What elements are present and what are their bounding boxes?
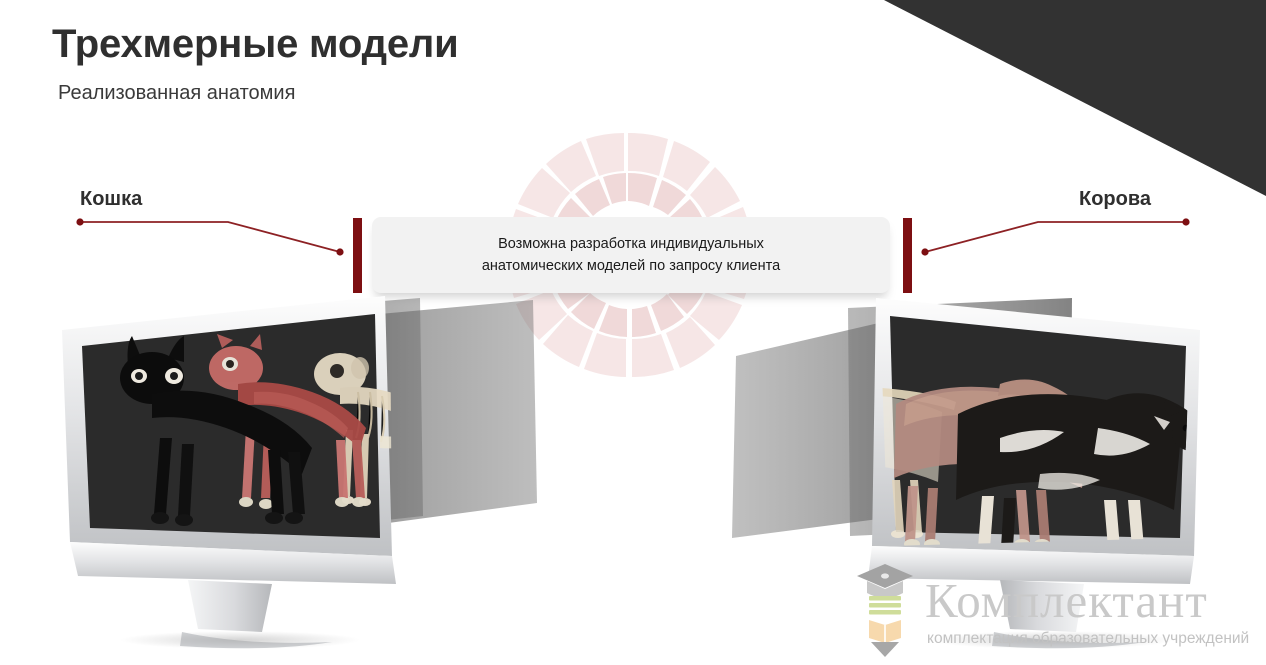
monitor-screen: [82, 314, 380, 538]
graduation-cap-books-icon: [855, 558, 915, 658]
note-line-1: Возможна разработка индивидуальных: [498, 236, 764, 252]
monitor-chin: [868, 546, 1194, 584]
callout-label-cow: Корова: [1079, 188, 1151, 211]
cat-anatomy-render: [120, 334, 448, 526]
monitor-shadow: [930, 631, 1174, 649]
page-subtitle: Реализованная анатомия: [58, 82, 295, 105]
screen-ghost-panel-far: [314, 300, 537, 532]
brand-name: Комплектант: [925, 572, 1208, 629]
note-line-2: анатомических моделей по запросу клиента: [482, 258, 780, 274]
monitor-shadow: [120, 631, 360, 649]
monitor-chin: [70, 542, 396, 584]
cat-skin-layer: [120, 336, 312, 526]
monitor-base: [992, 632, 1146, 648]
page-title: Трехмерные модели: [52, 22, 458, 67]
monitor-bezel: [62, 296, 392, 556]
cat-skeleton-layer: [314, 353, 448, 506]
screen-ghost-panel-far: [732, 306, 952, 538]
note-text: Возможна разработка индивидуальных анато…: [468, 233, 794, 278]
cat-muscle-layer: [209, 334, 366, 509]
cow-muscle-layer: [894, 379, 1088, 549]
monitor-bezel: [872, 298, 1200, 556]
cow-skin-layer: [956, 393, 1225, 555]
accent-bar-left: [353, 218, 362, 293]
brand-logo: Комплектант комплектация образовательных…: [855, 558, 1260, 658]
monitor-cat-anatomy: [40, 288, 560, 658]
note-callout-box: Возможна разработка индивидуальных анато…: [372, 217, 890, 293]
monitor-screen: [890, 316, 1186, 538]
cow-skeleton-layer: [776, 386, 956, 538]
screen-ghost-panel-near: [848, 298, 1072, 536]
cow-anatomy-render: [776, 379, 1225, 555]
monitor-stand: [188, 580, 272, 632]
accent-bar-right: [903, 218, 912, 293]
brand-tagline: комплектация образовательных учреждений: [927, 630, 1249, 648]
monitor-cow-anatomy: [700, 288, 1230, 658]
monitor-stand: [1000, 580, 1084, 632]
screen-ghost-panel-near: [198, 298, 423, 540]
slide-canvas: Трехмерные модели Реализованная анатомия…: [0, 0, 1266, 665]
monitor-base: [180, 632, 332, 648]
callout-label-cat: Кошка: [80, 188, 142, 211]
